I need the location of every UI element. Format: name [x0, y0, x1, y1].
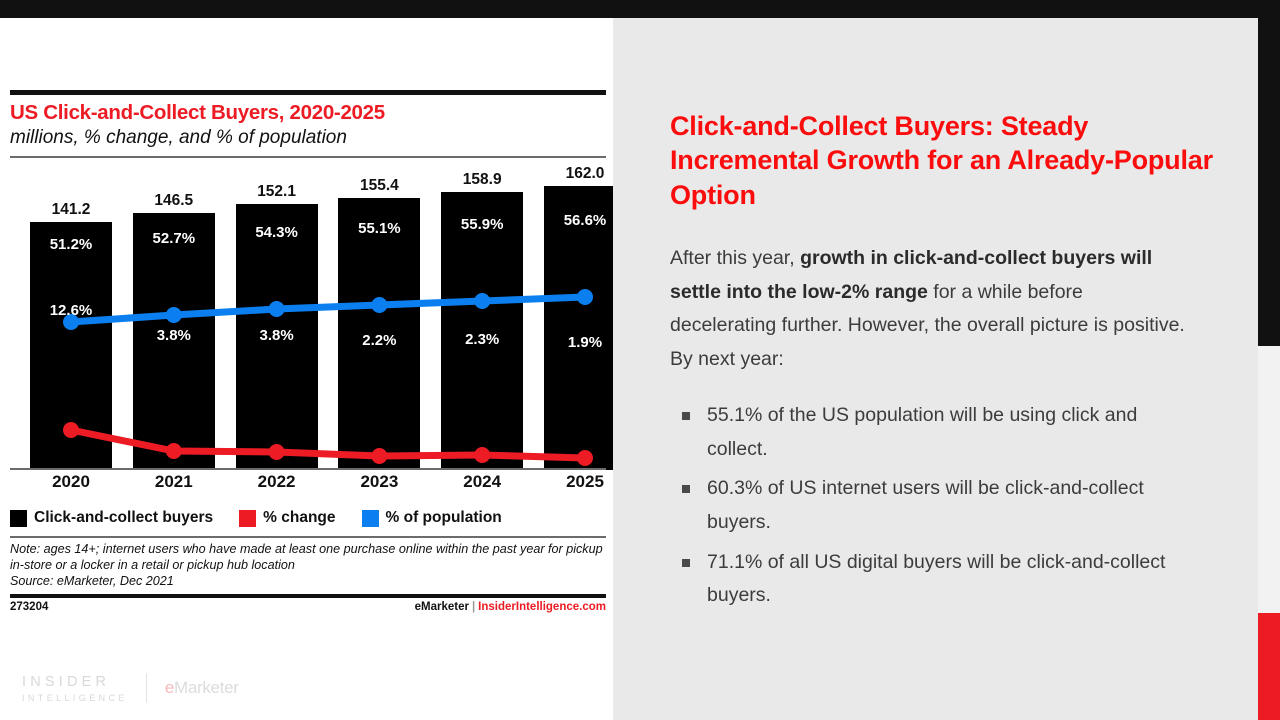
chart-plot-area: 141.2146.5152.1155.4158.9162.0 51.2%52.7…: [10, 162, 606, 470]
legend-swatch-icon: [362, 510, 379, 527]
x-tick-2020: 2020: [30, 472, 112, 492]
right-edge-dark-strip: [1258, 0, 1280, 346]
content-bullet-text: 71.1% of all US digital buyers will be c…: [707, 551, 1165, 607]
legend-label: Click-and-collect buyers: [34, 509, 213, 527]
chart-legend: Click-and-collect buyers% change% of pop…: [10, 506, 606, 530]
content-bullet-item: 60.3% of US internet users will be click…: [670, 472, 1200, 539]
right-edge-red-accent: [1258, 613, 1280, 720]
bar-value-label-2020: 141.2: [30, 201, 112, 219]
content-bullet-text: 60.3% of US internet users will be click…: [707, 477, 1144, 533]
note-text: Note: ages 14+; internet users who have …: [10, 542, 603, 572]
legend-item-click-and-collect-buyers[interactable]: Click-and-collect buyers: [10, 509, 213, 527]
content-bullet-text: 55.1% of the US population will be using…: [707, 404, 1137, 460]
content-bullet-item: 55.1% of the US population will be using…: [670, 399, 1200, 466]
legend-item-of-population[interactable]: % of population: [362, 509, 502, 527]
chart-header-rule: [10, 156, 606, 158]
x-tick-2024: 2024: [441, 472, 523, 492]
pct-change-label-2024: 2.3%: [441, 331, 523, 348]
footer-brand-block: eMarketer|InsiderIntelligence.com: [415, 601, 606, 613]
chart-note: Note: ages 14+; internet users who have …: [10, 542, 606, 589]
logo-intelligence-word: INTELLIGENCE: [22, 693, 128, 703]
insider-intelligence-logo: INSIDER INTELLIGENCE eMarketer: [22, 673, 239, 703]
pct-of-population-label-2023: 55.1%: [338, 220, 420, 237]
pct-change-label-2020: 12.6%: [30, 302, 112, 319]
x-axis-line: [10, 468, 606, 470]
top-dark-bar: [0, 0, 1280, 18]
pct-change-label-2023: 2.2%: [338, 332, 420, 349]
legend-item-change[interactable]: % change: [239, 509, 335, 527]
footer-url[interactable]: InsiderIntelligence.com: [478, 601, 606, 613]
pct-of-population-label-2020: 51.2%: [30, 236, 112, 253]
chart-top-rule: [10, 90, 606, 95]
slide-canvas: US Click-and-Collect Buyers, 2020-2025 m…: [0, 0, 1280, 720]
emarketer-logo-e: e: [165, 678, 174, 697]
square-bullet-icon: [682, 485, 690, 493]
legend-label: % change: [263, 509, 335, 527]
chart-id-number: 273204: [10, 601, 48, 613]
footer-separator: |: [472, 601, 475, 613]
content-panel: Click-and-Collect Buyers: Steady Increme…: [613, 18, 1258, 720]
chart-footer: 273204 eMarketer|InsiderIntelligence.com: [10, 601, 606, 613]
insider-logo-text: INSIDER INTELLIGENCE: [22, 673, 128, 703]
paragraph-lead-text: After this year,: [670, 247, 800, 269]
source-text: Source: eMarketer, Dec 2021: [10, 574, 174, 588]
x-tick-2021: 2021: [133, 472, 215, 492]
x-tick-2022: 2022: [236, 472, 318, 492]
chart-container: US Click-and-Collect Buyers, 2020-2025 m…: [10, 90, 606, 613]
chart-bottom-rule: [10, 594, 606, 598]
content-bullet-item: 71.1% of all US digital buyers will be c…: [670, 546, 1200, 613]
chart-title: US Click-and-Collect Buyers, 2020-2025: [10, 102, 606, 125]
note-separator-rule: [10, 536, 606, 538]
bar-2020: [30, 222, 112, 470]
bar-value-label-2021: 146.5: [133, 192, 215, 210]
legend-label: % of population: [386, 509, 502, 527]
footer-brand-name: eMarketer: [415, 601, 469, 613]
pct-of-population-label-2024: 55.9%: [441, 216, 523, 233]
pct-change-label-2021: 3.8%: [133, 327, 215, 344]
logo-insider-word: INSIDER: [22, 673, 128, 693]
chart-panel: US Click-and-Collect Buyers, 2020-2025 m…: [0, 18, 613, 720]
emarketer-logo-rest: Marketer: [174, 678, 239, 697]
square-bullet-icon: [682, 559, 690, 567]
logo-divider: [146, 673, 147, 703]
x-tick-2023: 2023: [338, 472, 420, 492]
square-bullet-icon: [682, 412, 690, 420]
x-axis-tick-labels: 202020212022202320242025: [10, 472, 606, 500]
content-paragraph: After this year, growth in click-and-col…: [670, 242, 1190, 377]
bar-value-label-2023: 155.4: [338, 177, 420, 195]
pct-of-population-label-2022: 54.3%: [236, 224, 318, 241]
content-bullet-list: 55.1% of the US population will be using…: [670, 399, 1200, 613]
content-headline: Click-and-Collect Buyers: Steady Increme…: [670, 109, 1215, 212]
bar-value-label-2024: 158.9: [441, 171, 523, 189]
chart-subtitle: millions, % change, and % of population: [10, 128, 606, 149]
emarketer-logo: eMarketer: [165, 678, 239, 698]
pct-of-population-label-2021: 52.7%: [133, 230, 215, 247]
right-edge-light-strip: [1258, 346, 1280, 613]
legend-swatch-icon: [10, 510, 27, 527]
legend-swatch-icon: [239, 510, 256, 527]
content-inner: Click-and-Collect Buyers: Steady Increme…: [670, 109, 1215, 619]
pct-change-label-2022: 3.8%: [236, 327, 318, 344]
bar-value-label-2022: 152.1: [236, 183, 318, 201]
